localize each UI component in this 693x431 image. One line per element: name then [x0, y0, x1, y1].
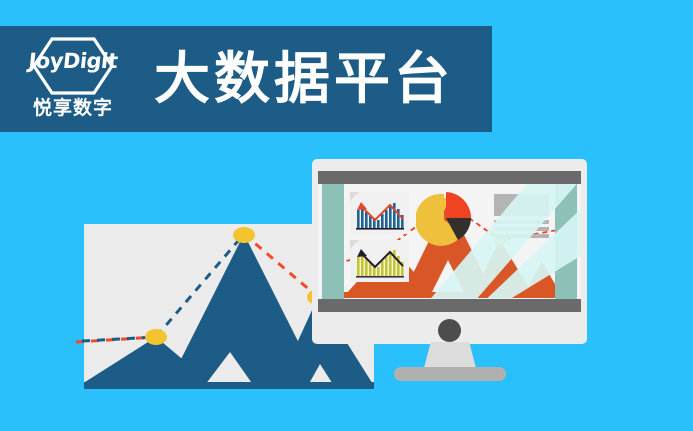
screen-side-strip-right	[555, 184, 577, 299]
trend-marker	[145, 329, 167, 345]
monitor-screen	[318, 184, 581, 299]
pie-chart	[416, 192, 472, 248]
dashboard-content	[344, 184, 555, 299]
monitor-stand-base	[394, 367, 506, 381]
up-left-arrow-icon	[357, 202, 367, 210]
banner-canvas: JoyDigit 悦享数字 大数据平台	[0, 0, 693, 431]
screen-side-strip-left	[322, 184, 344, 299]
monitor-stand-neck	[424, 342, 476, 368]
header-bar: JoyDigit 悦享数字 大数据平台	[0, 26, 492, 132]
monitor-bottom-bezel	[318, 299, 581, 312]
logo-wordmark: JoyDigit	[13, 49, 134, 73]
trend-marker	[233, 227, 255, 243]
up-left-arrow-icon	[357, 249, 367, 257]
content-placeholder-block	[494, 194, 549, 236]
bottom-background-strip	[0, 389, 693, 431]
brand-logo: JoyDigit 悦享数字	[14, 35, 132, 123]
desktop-monitor	[312, 159, 587, 344]
placeholder-image	[494, 194, 549, 216]
placeholder-line	[494, 234, 549, 238]
bar-chart-card-blue	[350, 192, 409, 234]
bar-chart-card-olive	[350, 240, 409, 282]
page-title: 大数据平台	[154, 51, 454, 107]
monitor-power-dot	[438, 319, 461, 342]
monitor-top-bezel	[318, 171, 581, 184]
logo-subtitle: 悦享数字	[14, 93, 132, 120]
card-fold-corner	[350, 240, 359, 249]
card-fold-corner	[350, 192, 359, 201]
placeholder-line	[494, 220, 549, 224]
placeholder-line	[494, 227, 549, 231]
